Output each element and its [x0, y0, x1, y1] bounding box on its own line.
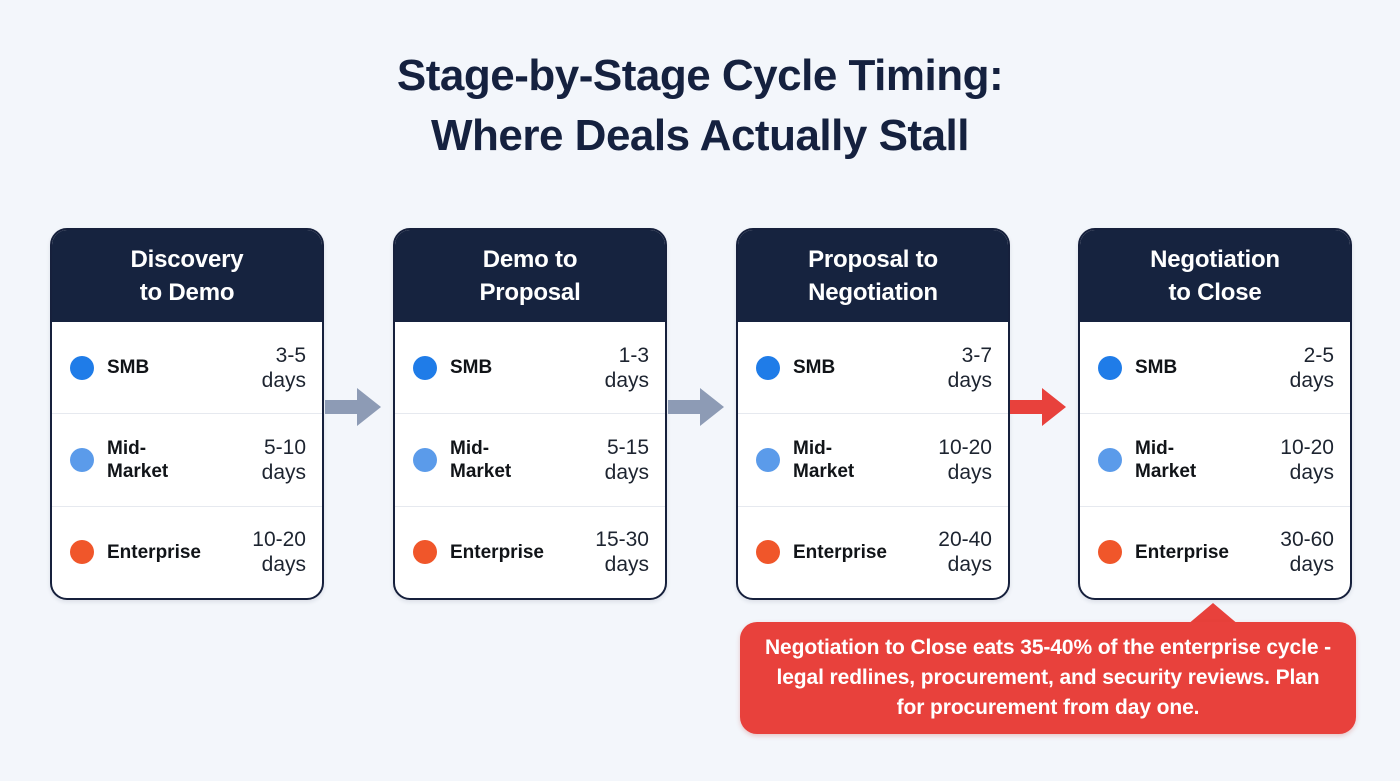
- segment-label-line-2: Market: [450, 461, 511, 482]
- segment-row-enterprise[interactable]: Enterprise 10-20 days: [52, 506, 322, 598]
- enterprise-dot-icon: [1098, 540, 1122, 564]
- segment-label-line-1: Mid-: [107, 438, 146, 459]
- smb-dot-icon: [1098, 356, 1122, 380]
- segment-value-number: 20-40: [938, 527, 992, 552]
- segment-label: SMB: [793, 356, 948, 379]
- segment-value-number: 3-5: [262, 343, 306, 368]
- segment-row-mid-market[interactable]: Mid- Market 10-20 days: [1080, 413, 1350, 505]
- segment-row-mid-market[interactable]: Mid- Market 10-20 days: [738, 413, 1008, 505]
- stage-card-body: SMB 2-5 days Mid- Market 10-20 days: [1080, 322, 1350, 598]
- segment-row-smb[interactable]: SMB 3-5 days: [52, 322, 322, 413]
- segment-value-number: 15-30: [595, 527, 649, 552]
- segment-value-unit: days: [1290, 368, 1334, 393]
- segment-value: 5-15 days: [605, 435, 649, 485]
- segment-label-line-2: Market: [107, 461, 168, 482]
- segment-value-unit: days: [262, 368, 306, 393]
- segment-value-unit: days: [1280, 460, 1334, 485]
- segment-label: Enterprise: [793, 541, 938, 564]
- enterprise-dot-icon: [70, 540, 94, 564]
- segment-value-number: 3-7: [948, 343, 992, 368]
- segment-value: 3-5 days: [262, 343, 306, 393]
- stage-card-body: SMB 3-7 days Mid- Market 10-20 days: [738, 322, 1008, 598]
- stage-card-header: Demo to Proposal: [395, 230, 665, 322]
- stage-card-title-line-2: to Demo: [140, 276, 235, 309]
- segment-label: Mid- Market: [793, 437, 938, 483]
- page-title: Stage-by-Stage Cycle Timing: Where Deals…: [0, 46, 1400, 166]
- segment-value-number: 2-5: [1290, 343, 1334, 368]
- arrow-discovery-to-demo-next: [325, 386, 381, 428]
- stage-card-title-line-2: to Close: [1168, 276, 1261, 309]
- stage-card-body: SMB 3-5 days Mid- Market 5-10 days: [52, 322, 322, 598]
- midmarket-dot-icon: [413, 448, 437, 472]
- smb-dot-icon: [413, 356, 437, 380]
- segment-row-smb[interactable]: SMB 3-7 days: [738, 322, 1008, 413]
- segment-label: Enterprise: [450, 541, 595, 564]
- segment-value: 15-30 days: [595, 527, 649, 577]
- page-title-line-2: Where Deals Actually Stall: [0, 106, 1400, 166]
- segment-label: Enterprise: [107, 541, 252, 564]
- segment-value-number: 10-20: [938, 435, 992, 460]
- segment-label: Mid- Market: [450, 437, 605, 483]
- arrow-demo-to-proposal-next: [668, 386, 724, 428]
- segment-label-line-1: Mid-: [793, 438, 832, 459]
- stage-card-title-line-1: Proposal to: [808, 243, 938, 276]
- segment-row-mid-market[interactable]: Mid- Market 5-15 days: [395, 413, 665, 505]
- segment-value-number: 10-20: [252, 527, 306, 552]
- arrow-proposal-to-negotiation-next: [1010, 386, 1066, 428]
- segment-label: Enterprise: [1135, 541, 1280, 564]
- segment-row-enterprise[interactable]: Enterprise 15-30 days: [395, 506, 665, 598]
- smb-dot-icon: [70, 356, 94, 380]
- callout-text: Negotiation to Close eats 35-40% of the …: [762, 633, 1334, 723]
- segment-value: 5-10 days: [262, 435, 306, 485]
- segment-value: 2-5 days: [1290, 343, 1334, 393]
- segment-row-smb[interactable]: SMB 2-5 days: [1080, 322, 1350, 413]
- stage-card-header: Discovery to Demo: [52, 230, 322, 322]
- smb-dot-icon: [756, 356, 780, 380]
- segment-value: 1-3 days: [605, 343, 649, 393]
- segment-label: SMB: [1135, 356, 1290, 379]
- segment-value-unit: days: [252, 552, 306, 577]
- stage-card-title-line-1: Discovery: [131, 243, 244, 276]
- stage-card-demo-to-proposal[interactable]: Demo to Proposal SMB 1-3 days Mid- Marke…: [393, 228, 667, 600]
- stage-card-discovery-to-demo[interactable]: Discovery to Demo SMB 3-5 days Mid- Mark…: [50, 228, 324, 600]
- segment-value-number: 10-20: [1280, 435, 1334, 460]
- segment-value: 3-7 days: [948, 343, 992, 393]
- segment-value-unit: days: [595, 552, 649, 577]
- segment-value-unit: days: [605, 460, 649, 485]
- segment-value-unit: days: [938, 552, 992, 577]
- midmarket-dot-icon: [1098, 448, 1122, 472]
- segment-label-line-1: Mid-: [450, 438, 489, 459]
- segment-value-unit: days: [262, 460, 306, 485]
- segment-label-line-2: Market: [793, 461, 854, 482]
- segment-value-number: 5-10: [262, 435, 306, 460]
- segment-row-enterprise[interactable]: Enterprise 20-40 days: [738, 506, 1008, 598]
- midmarket-dot-icon: [70, 448, 94, 472]
- segment-value-unit: days: [948, 368, 992, 393]
- stage-card-title-line-1: Negotiation: [1150, 243, 1280, 276]
- segment-label: Mid- Market: [107, 437, 262, 483]
- segment-value-number: 30-60: [1280, 527, 1334, 552]
- stage-card-title-line-1: Demo to: [483, 243, 578, 276]
- stage-card-proposal-to-negotiation[interactable]: Proposal to Negotiation SMB 3-7 days Mid…: [736, 228, 1010, 600]
- segment-label-line-1: Mid-: [1135, 438, 1174, 459]
- segment-label: Mid- Market: [1135, 437, 1280, 483]
- stage-card-title-line-2: Negotiation: [808, 276, 938, 309]
- stage-card-body: SMB 1-3 days Mid- Market 5-15 days: [395, 322, 665, 598]
- segment-label: SMB: [107, 356, 262, 379]
- stage-card-title-line-2: Proposal: [479, 276, 580, 309]
- segment-value-number: 1-3: [605, 343, 649, 368]
- midmarket-dot-icon: [756, 448, 780, 472]
- segment-value: 10-20 days: [1280, 435, 1334, 485]
- segment-value-unit: days: [938, 460, 992, 485]
- segment-value-unit: days: [605, 368, 649, 393]
- segment-value: 10-20 days: [252, 527, 306, 577]
- segment-value: 10-20 days: [938, 435, 992, 485]
- segment-value: 20-40 days: [938, 527, 992, 577]
- stage-card-header: Proposal to Negotiation: [738, 230, 1008, 322]
- stage-card-negotiation-to-close[interactable]: Negotiation to Close SMB 2-5 days Mid- M…: [1078, 228, 1352, 600]
- enterprise-dot-icon: [413, 540, 437, 564]
- segment-label: SMB: [450, 356, 605, 379]
- enterprise-dot-icon: [756, 540, 780, 564]
- segment-row-smb[interactable]: SMB 1-3 days: [395, 322, 665, 413]
- segment-value: 30-60 days: [1280, 527, 1334, 577]
- callout-insight-box: Negotiation to Close eats 35-40% of the …: [740, 622, 1356, 734]
- page-title-line-1: Stage-by-Stage Cycle Timing:: [0, 46, 1400, 106]
- segment-value-number: 5-15: [605, 435, 649, 460]
- segment-label-line-2: Market: [1135, 461, 1196, 482]
- segment-row-enterprise[interactable]: Enterprise 30-60 days: [1080, 506, 1350, 598]
- stage-card-header: Negotiation to Close: [1080, 230, 1350, 322]
- callout-line-1: Negotiation to Close eats 35-40% of the …: [765, 636, 1261, 659]
- segment-row-mid-market[interactable]: Mid- Market 5-10 days: [52, 413, 322, 505]
- segment-value-unit: days: [1280, 552, 1334, 577]
